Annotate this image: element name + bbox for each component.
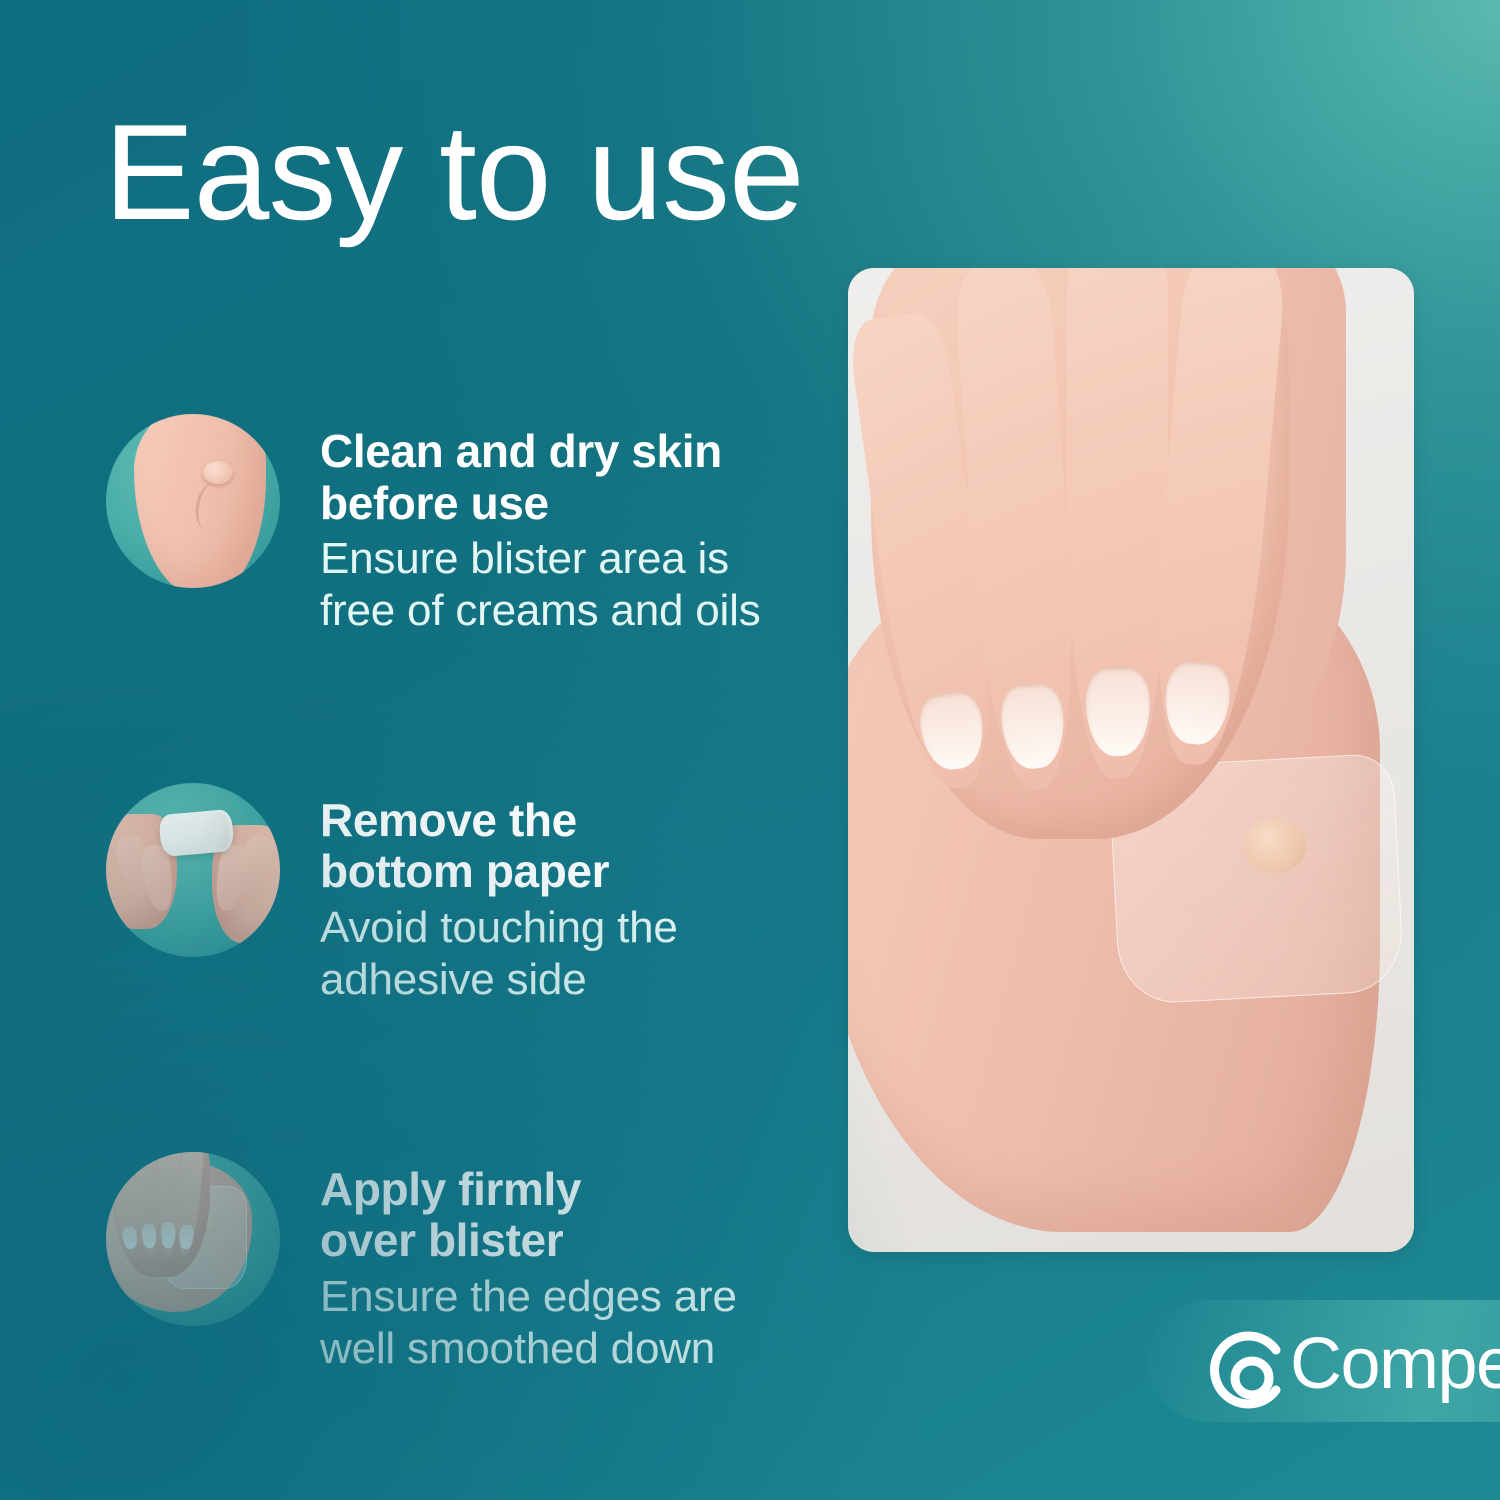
step-text-block: Apply firmly over blister Ensure the edg… [320, 1146, 840, 1375]
step-subtitle: Avoid touching the adhesive side [320, 902, 840, 1006]
hands-peeling-illustration [106, 783, 280, 957]
product-photo [848, 268, 1414, 1252]
step-item: Apply firmly over blister Ensure the edg… [100, 1146, 840, 1375]
fingernail [1000, 682, 1067, 770]
finger [133, 1152, 161, 1257]
hand-pressing-heel-icon [106, 1152, 280, 1326]
logo-wordmark: Compeed [1290, 1328, 1500, 1400]
fingernail [161, 1222, 175, 1248]
plaster-patch [158, 809, 234, 857]
step-title: Apply firmly over blister [320, 1164, 840, 1267]
step-subtitle: Ensure blister area is free of creams an… [320, 533, 840, 637]
blister-bump [203, 461, 233, 484]
heel-blister-icon [106, 414, 280, 588]
fingernail [142, 1224, 157, 1249]
hands-peeling-plaster-icon [106, 783, 280, 957]
finger [1067, 268, 1168, 778]
hand-pressing-illustration [106, 1152, 280, 1326]
page-title: Easy to use [104, 104, 804, 240]
product-instruction-panel: Easy to use Clean and dry skin before us… [0, 0, 1500, 1500]
fingernail [1086, 668, 1150, 756]
step-title: Remove the bottom paper [320, 795, 840, 898]
fingernail [122, 1226, 138, 1249]
compeed-ring-icon [1208, 1328, 1292, 1412]
heel-blister-illustration [106, 414, 280, 588]
step-title: Clean and dry skin before use [320, 426, 840, 529]
step-item: Clean and dry skin before use Ensure bli… [100, 408, 840, 637]
step-text-block: Clean and dry skin before use Ensure bli… [320, 408, 840, 637]
steps-list: Clean and dry skin before use Ensure bli… [100, 408, 840, 1375]
step-text-block: Remove the bottom paper Avoid touching t… [320, 777, 840, 1006]
step-subtitle: Ensure the edges are well smoothed down [320, 1271, 840, 1375]
step-item: Remove the bottom paper Avoid touching t… [100, 777, 840, 1006]
fingernail [179, 1224, 194, 1249]
fingernail [1161, 660, 1232, 747]
brand-logo: Compeed ® [1208, 1328, 1500, 1412]
plaster-backing-fold [202, 812, 230, 851]
